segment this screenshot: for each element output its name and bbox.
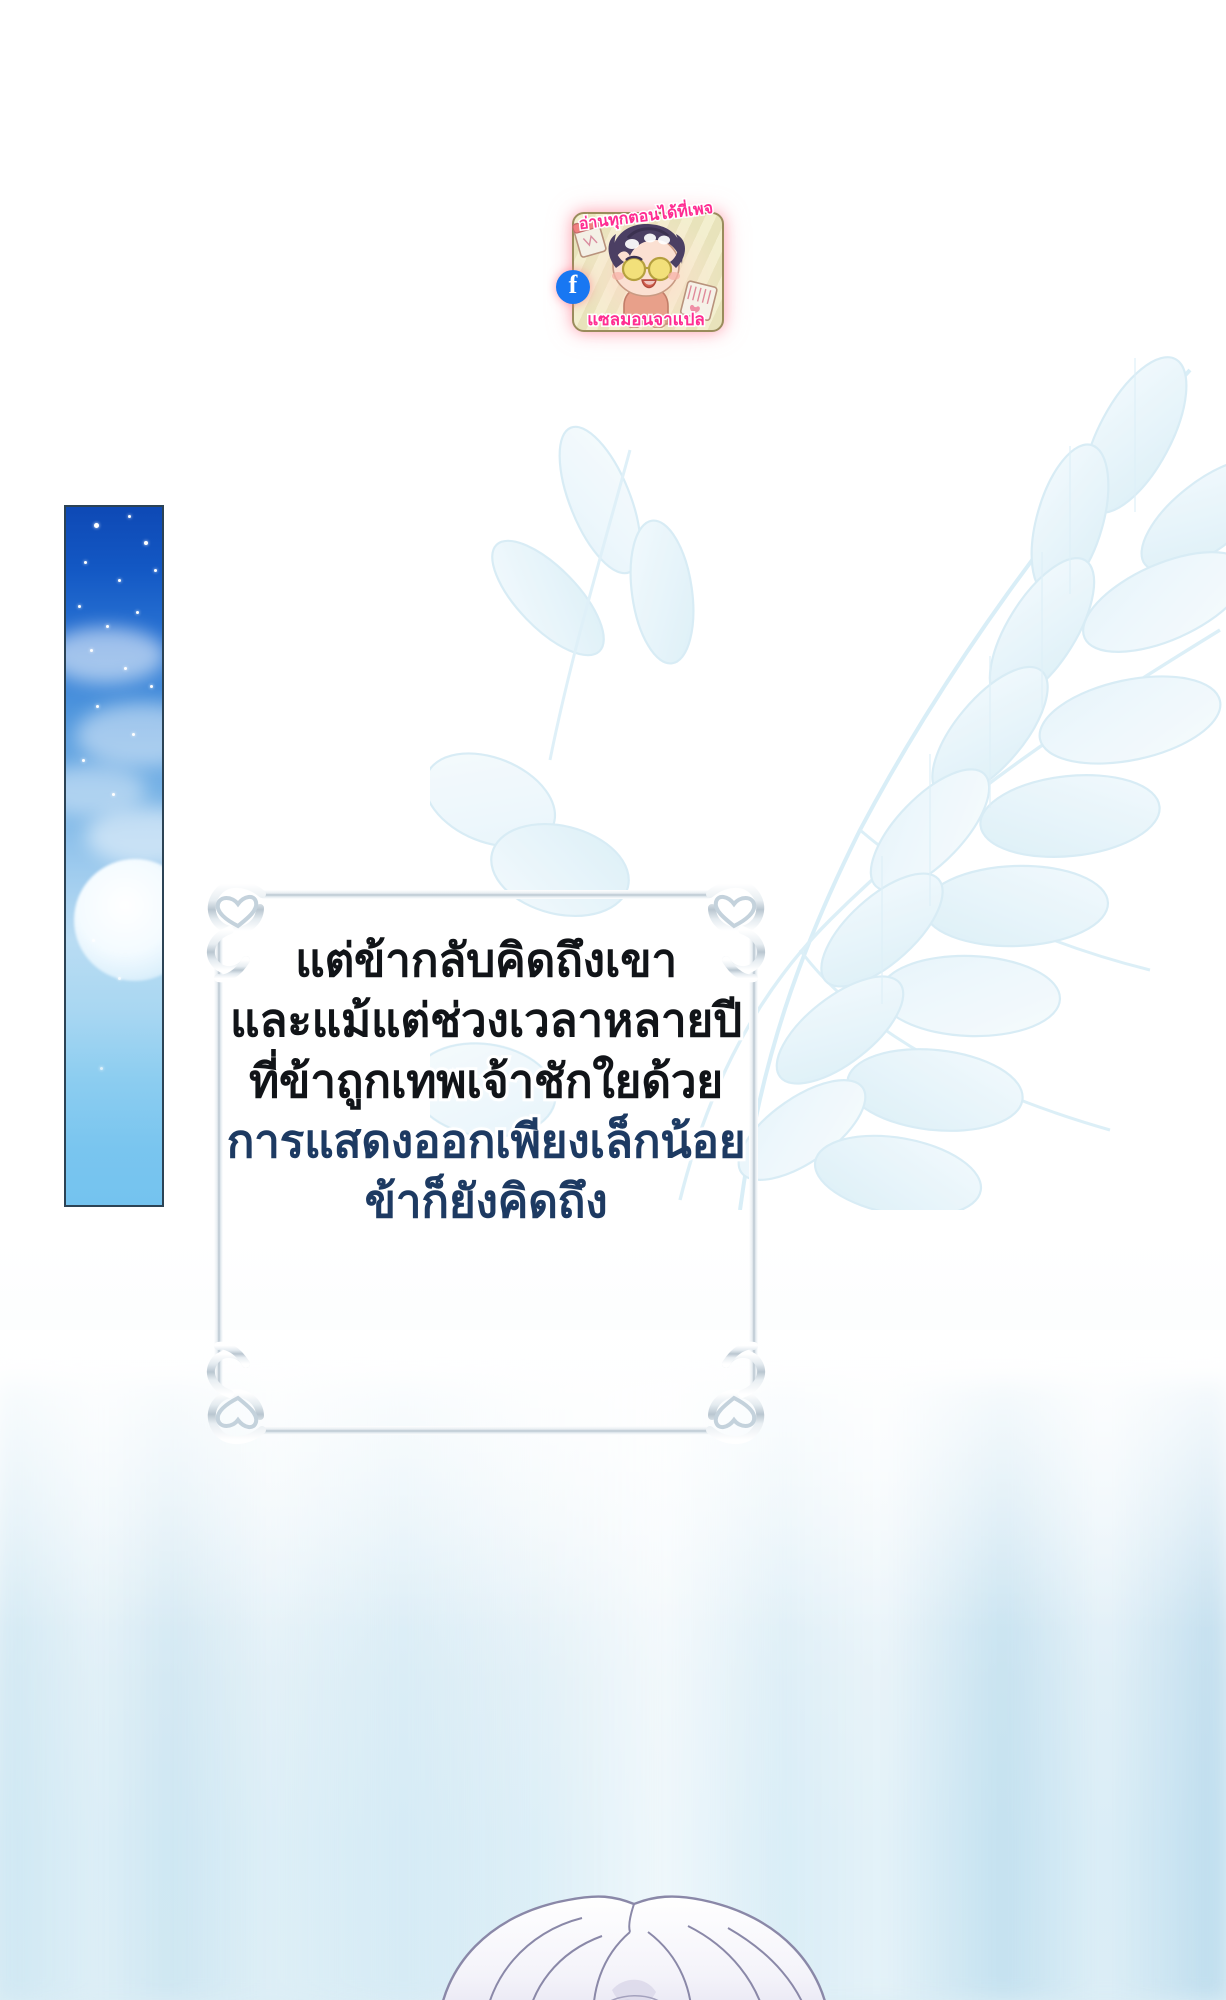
dialogue-line-5: ข้าก็ยังคิดถึง (176, 1171, 796, 1231)
comic-panel-page: แต่ข้ากลับคิดถึงเขา และแม้แต่ช่วงเวลาหลา… (0, 0, 1226, 2000)
dialogue-text-block: แต่ข้ากลับคิดถึงเขา และแม้แต่ช่วงเวลาหลา… (176, 930, 796, 1231)
moon-icon (74, 859, 164, 981)
chibi-character-avatar (572, 212, 720, 328)
facebook-glyph: f (569, 272, 578, 298)
translator-watermark[interactable]: อ่านทุกตอนได้ที่เพจ แซลมอนจาแปล f (556, 198, 736, 340)
character-head-silhouette (398, 1870, 868, 2000)
facebook-icon[interactable]: f (556, 270, 590, 304)
night-sky-moon-inset (64, 505, 164, 1207)
dialogue-line-2: และแม้แต่ช่วงเวลาหลายปี (176, 990, 796, 1050)
dialogue-line-1: แต่ข้ากลับคิดถึงเขา (176, 930, 796, 990)
dialogue-line-4: การแสดงออกเพียงเล็กน้อย (176, 1111, 796, 1171)
bottom-mist-glow (0, 1330, 1226, 1630)
dialogue-line-3: ที่ข้าถูกเทพเจ้าชักใยด้วย (176, 1051, 796, 1111)
